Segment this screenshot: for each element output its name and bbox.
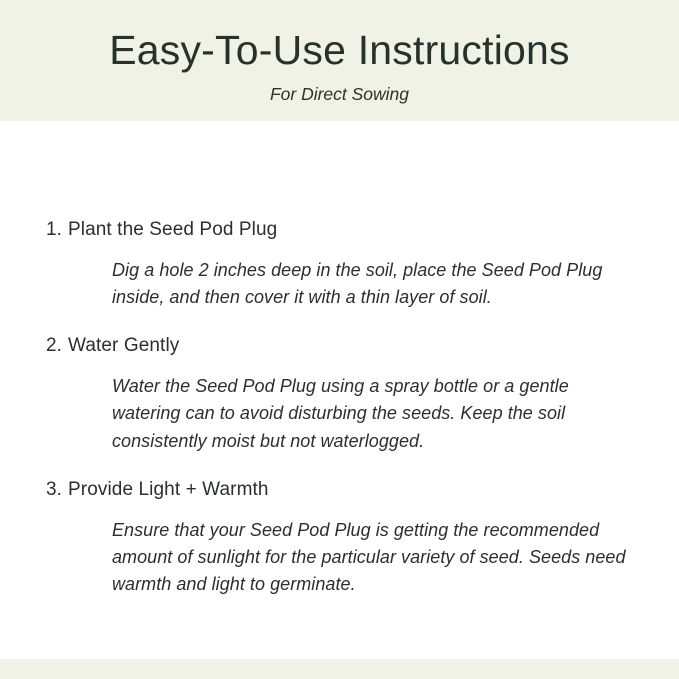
step-description: Ensure that your Seed Pod Plug is gettin… xyxy=(112,517,633,599)
step-description: Water the Seed Pod Plug using a spray bo… xyxy=(112,373,633,455)
list-item: 2. Water Gently Water the Seed Pod Plug … xyxy=(46,333,633,455)
step-heading: 1. Plant the Seed Pod Plug xyxy=(46,217,633,243)
list-item: 1. Plant the Seed Pod Plug Dig a hole 2 … xyxy=(46,217,633,311)
step-number: 2. xyxy=(46,333,68,359)
step-title: Provide Light + Warmth xyxy=(68,477,269,503)
footer-band xyxy=(0,659,679,679)
step-heading: 3. Provide Light + Warmth xyxy=(46,477,633,503)
header-band: Easy-To-Use Instructions For Direct Sowi… xyxy=(0,0,679,121)
page-title: Easy-To-Use Instructions xyxy=(109,26,570,74)
step-description: Dig a hole 2 inches deep in the soil, pl… xyxy=(112,257,633,312)
step-heading: 2. Water Gently xyxy=(46,333,633,359)
instructions-body: 1. Plant the Seed Pod Plug Dig a hole 2 … xyxy=(0,121,679,659)
step-number: 1. xyxy=(46,217,68,243)
instruction-card: Easy-To-Use Instructions For Direct Sowi… xyxy=(0,0,679,679)
page-subtitle: For Direct Sowing xyxy=(270,84,409,105)
step-title: Water Gently xyxy=(68,333,179,359)
list-item: 3. Provide Light + Warmth Ensure that yo… xyxy=(46,477,633,599)
step-title: Plant the Seed Pod Plug xyxy=(68,217,277,243)
step-number: 3. xyxy=(46,477,68,503)
instruction-steps-list: 1. Plant the Seed Pod Plug Dig a hole 2 … xyxy=(0,217,679,599)
